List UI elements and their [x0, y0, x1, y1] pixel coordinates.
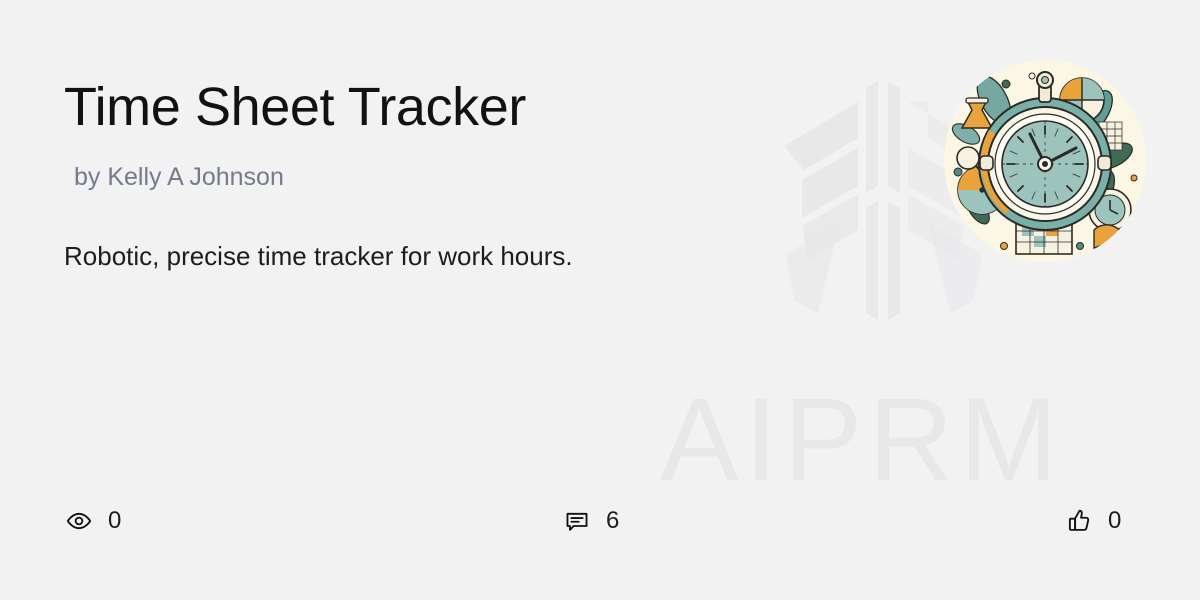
- stat-comments-value: 6: [606, 509, 619, 533]
- stat-views-value: 0: [108, 509, 121, 533]
- prompt-card: AIPRM Time Sheet Tracker by Kelly A John…: [0, 0, 1200, 600]
- aiprm-wordmark-watermark: AIPRM: [660, 381, 1064, 499]
- stat-votes-value: 0: [1108, 509, 1121, 533]
- page-title: Time Sheet Tracker: [64, 77, 526, 137]
- thumbs-up-icon: [1064, 506, 1094, 536]
- stat-votes[interactable]: 0: [1064, 498, 1121, 544]
- stat-comments[interactable]: 6: [562, 498, 619, 544]
- author-byline: by Kelly A Johnson: [74, 162, 284, 192]
- comment-icon: [562, 506, 592, 536]
- stat-views[interactable]: 0: [64, 498, 121, 544]
- eye-icon: [64, 506, 94, 536]
- prompt-description: Robotic, precise time tracker for work h…: [64, 240, 573, 274]
- prompt-thumbnail: [944, 60, 1146, 262]
- stats-row: 0 6 0: [0, 498, 1200, 544]
